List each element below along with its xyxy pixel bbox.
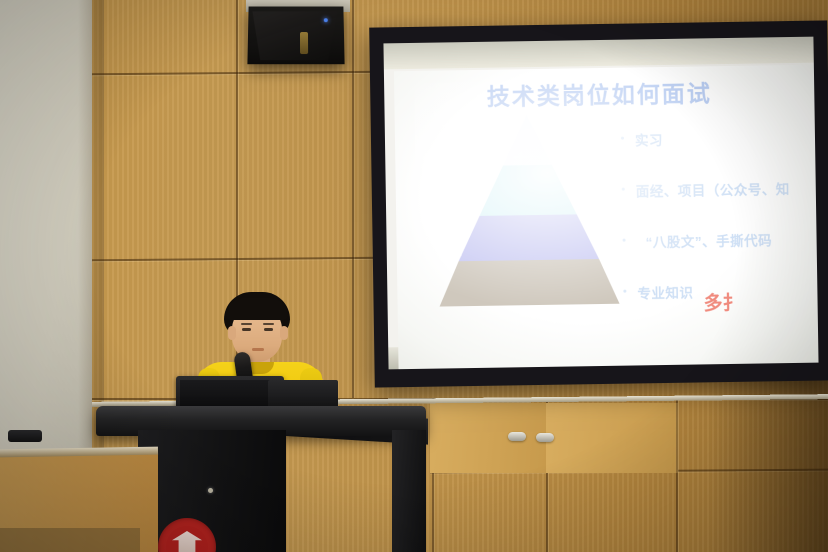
projector-hotspot	[414, 78, 748, 313]
desk-object	[8, 430, 42, 442]
cabinet-door[interactable]	[546, 403, 678, 473]
panel-seam	[352, 0, 354, 398]
cabinet-door[interactable]	[430, 403, 548, 473]
floor-shadow	[0, 528, 140, 552]
speaker-badge	[300, 32, 308, 54]
podium-knob	[208, 488, 213, 493]
lecture-hall-photo: 技术类岗位如何面试	[0, 0, 828, 552]
projection-screen: 技术类岗位如何面试	[383, 37, 818, 370]
podium-column	[392, 430, 426, 552]
eye	[264, 328, 273, 331]
ear	[280, 326, 288, 340]
ceiling-speaker-icon	[247, 7, 344, 65]
laptop-screen	[180, 380, 280, 409]
projection-screen-frame: 技术类岗位如何面试	[369, 20, 828, 387]
speaker-led-icon	[324, 18, 328, 22]
mouth	[252, 348, 264, 351]
eyebrow	[241, 323, 252, 325]
ear	[228, 326, 236, 340]
cabinet-handle[interactable]	[508, 432, 526, 441]
eyebrow	[263, 323, 274, 325]
cabinet-handle[interactable]	[536, 433, 554, 442]
hair-fringe	[226, 298, 288, 320]
eye	[242, 328, 251, 331]
